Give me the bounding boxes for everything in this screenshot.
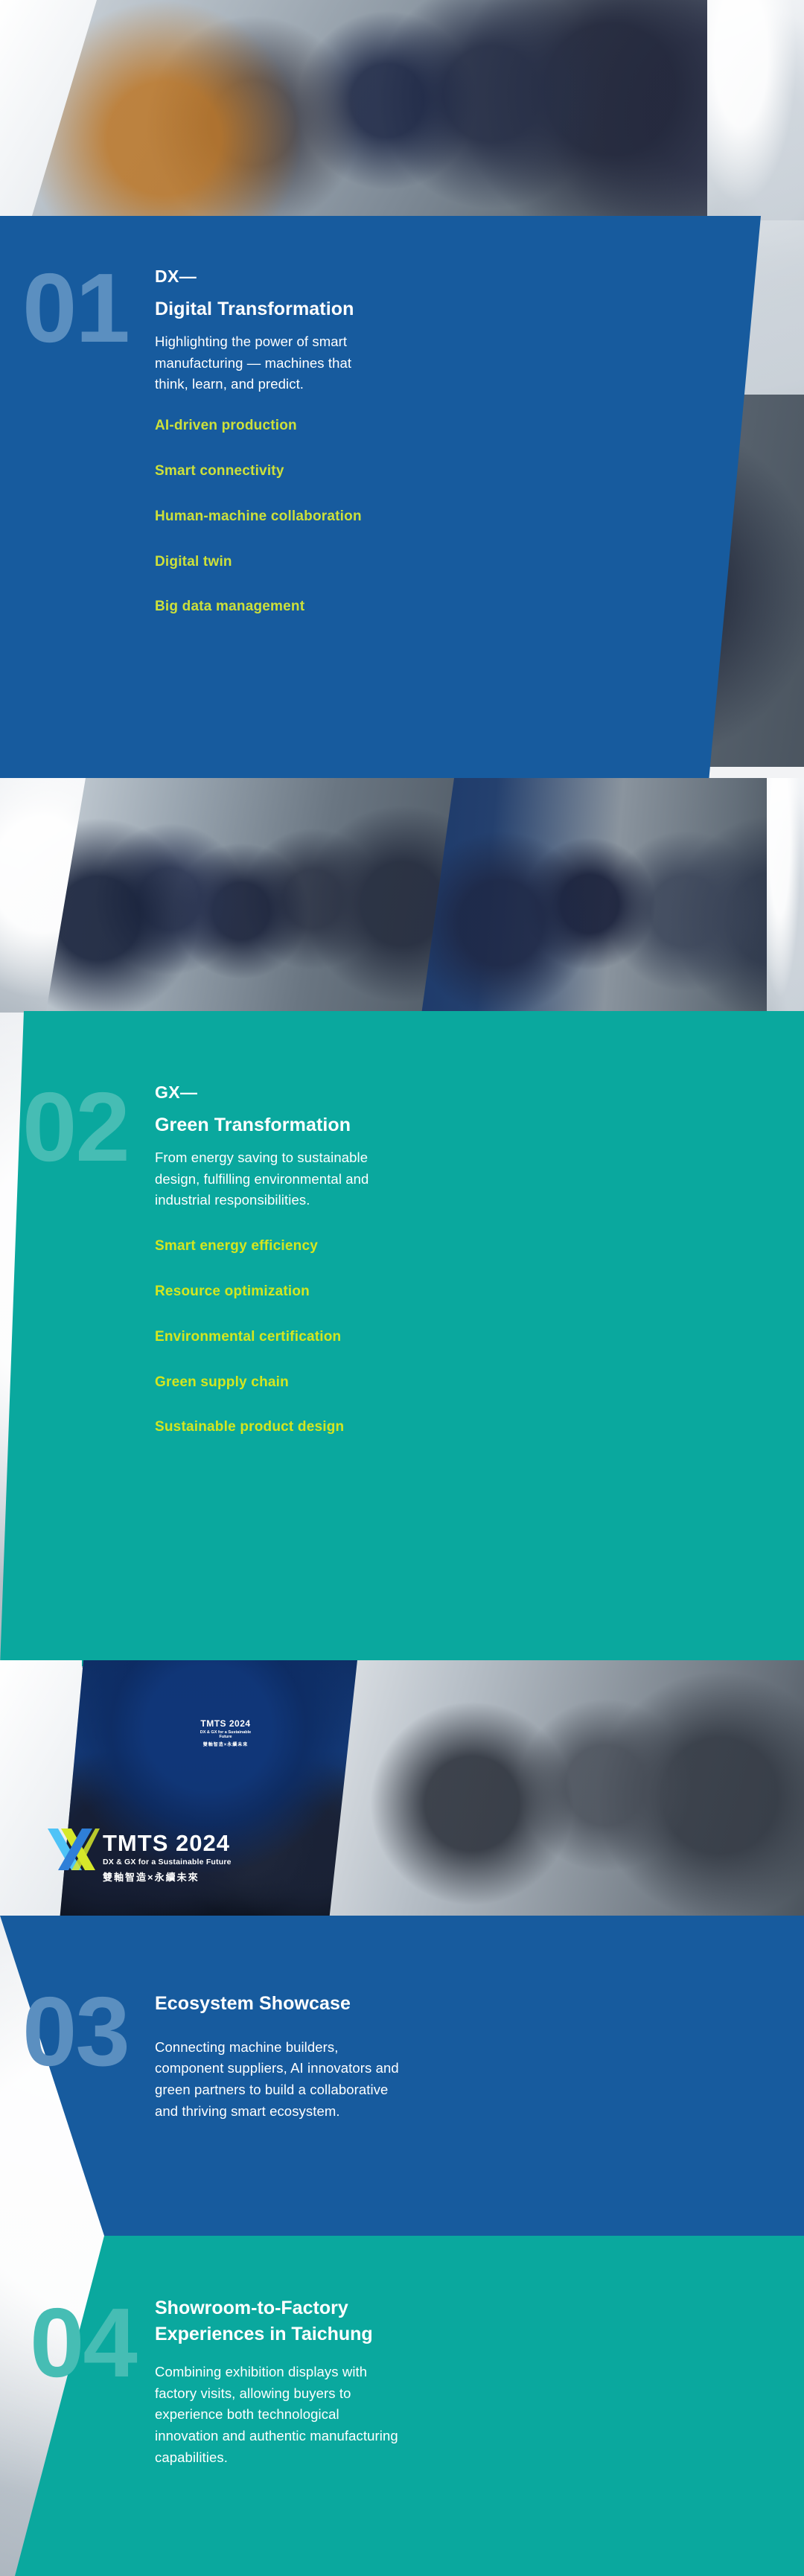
section-01: 01 DX— Digital Transformation Highlighti… (0, 216, 804, 782)
section-01-text-column: DX— Digital Transformation Highlighting … (134, 259, 380, 616)
photo-booth-visitors (421, 778, 804, 1020)
section-01-kicker: DX— (155, 267, 380, 287)
photo-band-delegation (0, 778, 804, 1020)
section-04-number: 04 (30, 2294, 134, 2392)
section-03-text-column: Ecosystem Showcase Connecting machine bu… (134, 1983, 402, 2122)
list-item: Smart connectivity (155, 463, 380, 480)
section-04-text-column: Showroom-to-Factory Experiences in Taich… (134, 2294, 402, 2468)
list-item: Smart energy efficiency (155, 1238, 380, 1255)
photo-buyers-meeting (329, 1660, 804, 1921)
section-03-content: 03 Ecosystem Showcase Connecting machine… (22, 1983, 767, 2122)
list-item: Environmental certification (155, 1329, 380, 1346)
section-04-title: Showroom-to-Factory Experiences in Taich… (155, 2295, 402, 2347)
section-02-content: 02 GX— Green Transformation From energy … (22, 1078, 737, 1436)
section-02-title: Green Transformation (155, 1113, 380, 1138)
section-02-kicker: GX— (155, 1083, 380, 1103)
section-01-bullet-list: AI-driven production Smart connectivity … (155, 418, 380, 616)
list-item: Digital twin (155, 554, 380, 571)
photo-delegation-tour (45, 778, 491, 1020)
list-item: Resource optimization (155, 1284, 380, 1301)
section-02-bullet-list: Smart energy efficiency Resource optimiz… (155, 1238, 380, 1436)
photo-band-top (0, 0, 804, 223)
section-01-content: 01 DX— Digital Transformation Highlighti… (22, 259, 722, 616)
photo-expo-visitors (30, 0, 774, 223)
photo-band-tmts: TMTS 2024 DX & GX for a Sustainable Futu… (0, 1660, 804, 1921)
section-03-title: Ecosystem Showcase (155, 1992, 402, 2016)
list-item: AI-driven production (155, 418, 380, 435)
section-03-number: 03 (22, 1983, 134, 2081)
tmts-main-title: TMTS 2024 (103, 1831, 232, 1855)
section-03: 03 Ecosystem Showcase Connecting machine… (0, 1916, 804, 2236)
photo-hall-right (707, 0, 804, 223)
tmts-stage-banner-title: TMTS 2024 (200, 1718, 252, 1729)
section-01-number: 01 (22, 259, 134, 357)
section-04-content: 04 Showroom-to-Factory Experiences in Ta… (30, 2294, 774, 2468)
tmts-stage-banner-subtitle: DX & GX for a Sustainable Future (200, 1730, 252, 1739)
photo-hall-right-2 (767, 778, 804, 1020)
section-01-description: Highlighting the power of smart manufact… (155, 331, 380, 395)
tmts-stage-banner-chinese: 雙軸智造×永續未來 (200, 1741, 252, 1747)
section-02: 02 GX— Green Transformation From energy … (0, 1011, 804, 1666)
list-item: Human-machine collaboration (155, 508, 380, 526)
list-item: Green supply chain (155, 1374, 380, 1391)
tmts-x-logo-icon (45, 1826, 100, 1873)
section-03-description: Connecting machine builders, component s… (155, 2037, 402, 2123)
tmts-main-overlay: TMTS 2024 DX & GX for a Sustainable Futu… (103, 1831, 232, 1884)
section-04-description: Combining exhibition displays with facto… (155, 2362, 402, 2468)
section-02-description: From energy saving to sustainable design… (155, 1147, 380, 1211)
tmts-main-subtitle: DX & GX for a Sustainable Future (103, 1858, 232, 1866)
section-02-number: 02 (22, 1078, 134, 1176)
tmts-stage-banner: TMTS 2024 DX & GX for a Sustainable Futu… (200, 1718, 252, 1747)
list-item: Big data management (155, 599, 380, 616)
section-02-text-column: GX— Green Transformation From energy sav… (134, 1078, 380, 1436)
section-04: 04 Showroom-to-Factory Experiences in Ta… (0, 2236, 804, 2576)
tmts-main-chinese: 雙軸智造×永續未來 (103, 1869, 232, 1884)
section-01-title: Digital Transformation (155, 297, 380, 322)
list-item: Sustainable product design (155, 1419, 380, 1436)
